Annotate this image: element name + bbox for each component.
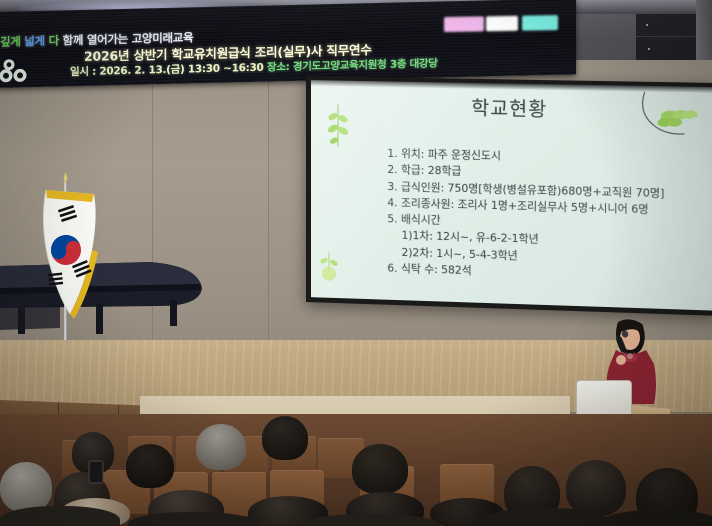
projection-screen-surface: 학교현황 1. 위치: 파주 운정신도시 2. 학급: 28학급 3. 급식인원…: [311, 80, 712, 310]
audience-body: [600, 510, 712, 526]
slide-title: 학교현황: [311, 90, 712, 125]
audience-body: [480, 508, 610, 526]
led-slogan-part-2: 넓게: [24, 34, 45, 48]
audience-phone-icon: [88, 460, 104, 484]
audience-head: [196, 424, 246, 470]
led-aux-marquee: [444, 13, 566, 35]
audience-head: [352, 444, 408, 494]
audience-head: [566, 460, 626, 516]
led-slogan-part-3: 다: [49, 34, 59, 48]
audience-body: [0, 506, 120, 526]
led-event-datetime: 일시 : 2026. 2. 13.(금) 13:30 ~16:30: [70, 62, 264, 79]
grand-piano: [0, 248, 206, 334]
projection-screen: 학교현황 1. 위치: 파주 운정신도시 2. 학급: 28학급 3. 급식인원…: [306, 76, 712, 316]
led-event-venue: 장소: 경기도고양교육지원청 3층 대강당: [267, 58, 438, 74]
audience-head: [0, 462, 52, 512]
audience-head: [262, 416, 308, 460]
auditorium-photo-scene: 깊게 넓게 다 함께 열어가는 고양미래교육 2026년 상반기 학교유치원급식…: [0, 0, 712, 526]
audience-head: [126, 444, 174, 488]
audience-seating-area: [0, 414, 712, 526]
korean-national-flag: [36, 188, 102, 320]
flag-finial-icon: [60, 172, 71, 186]
wall-seam: [268, 60, 269, 340]
goyang-education-logo-icon: [0, 57, 39, 84]
led-banner: 깊게 넓게 다 함께 열어가는 고양미래교육 2026년 상반기 학교유치원급식…: [0, 0, 576, 88]
sprout-decoration-bottom-left-icon: [317, 248, 341, 283]
slide-body-list: 1. 위치: 파주 운정신도시 2. 학급: 28학급 3. 급식인원: 750…: [347, 145, 698, 287]
led-slogan-part-1: 깊게: [0, 34, 21, 48]
